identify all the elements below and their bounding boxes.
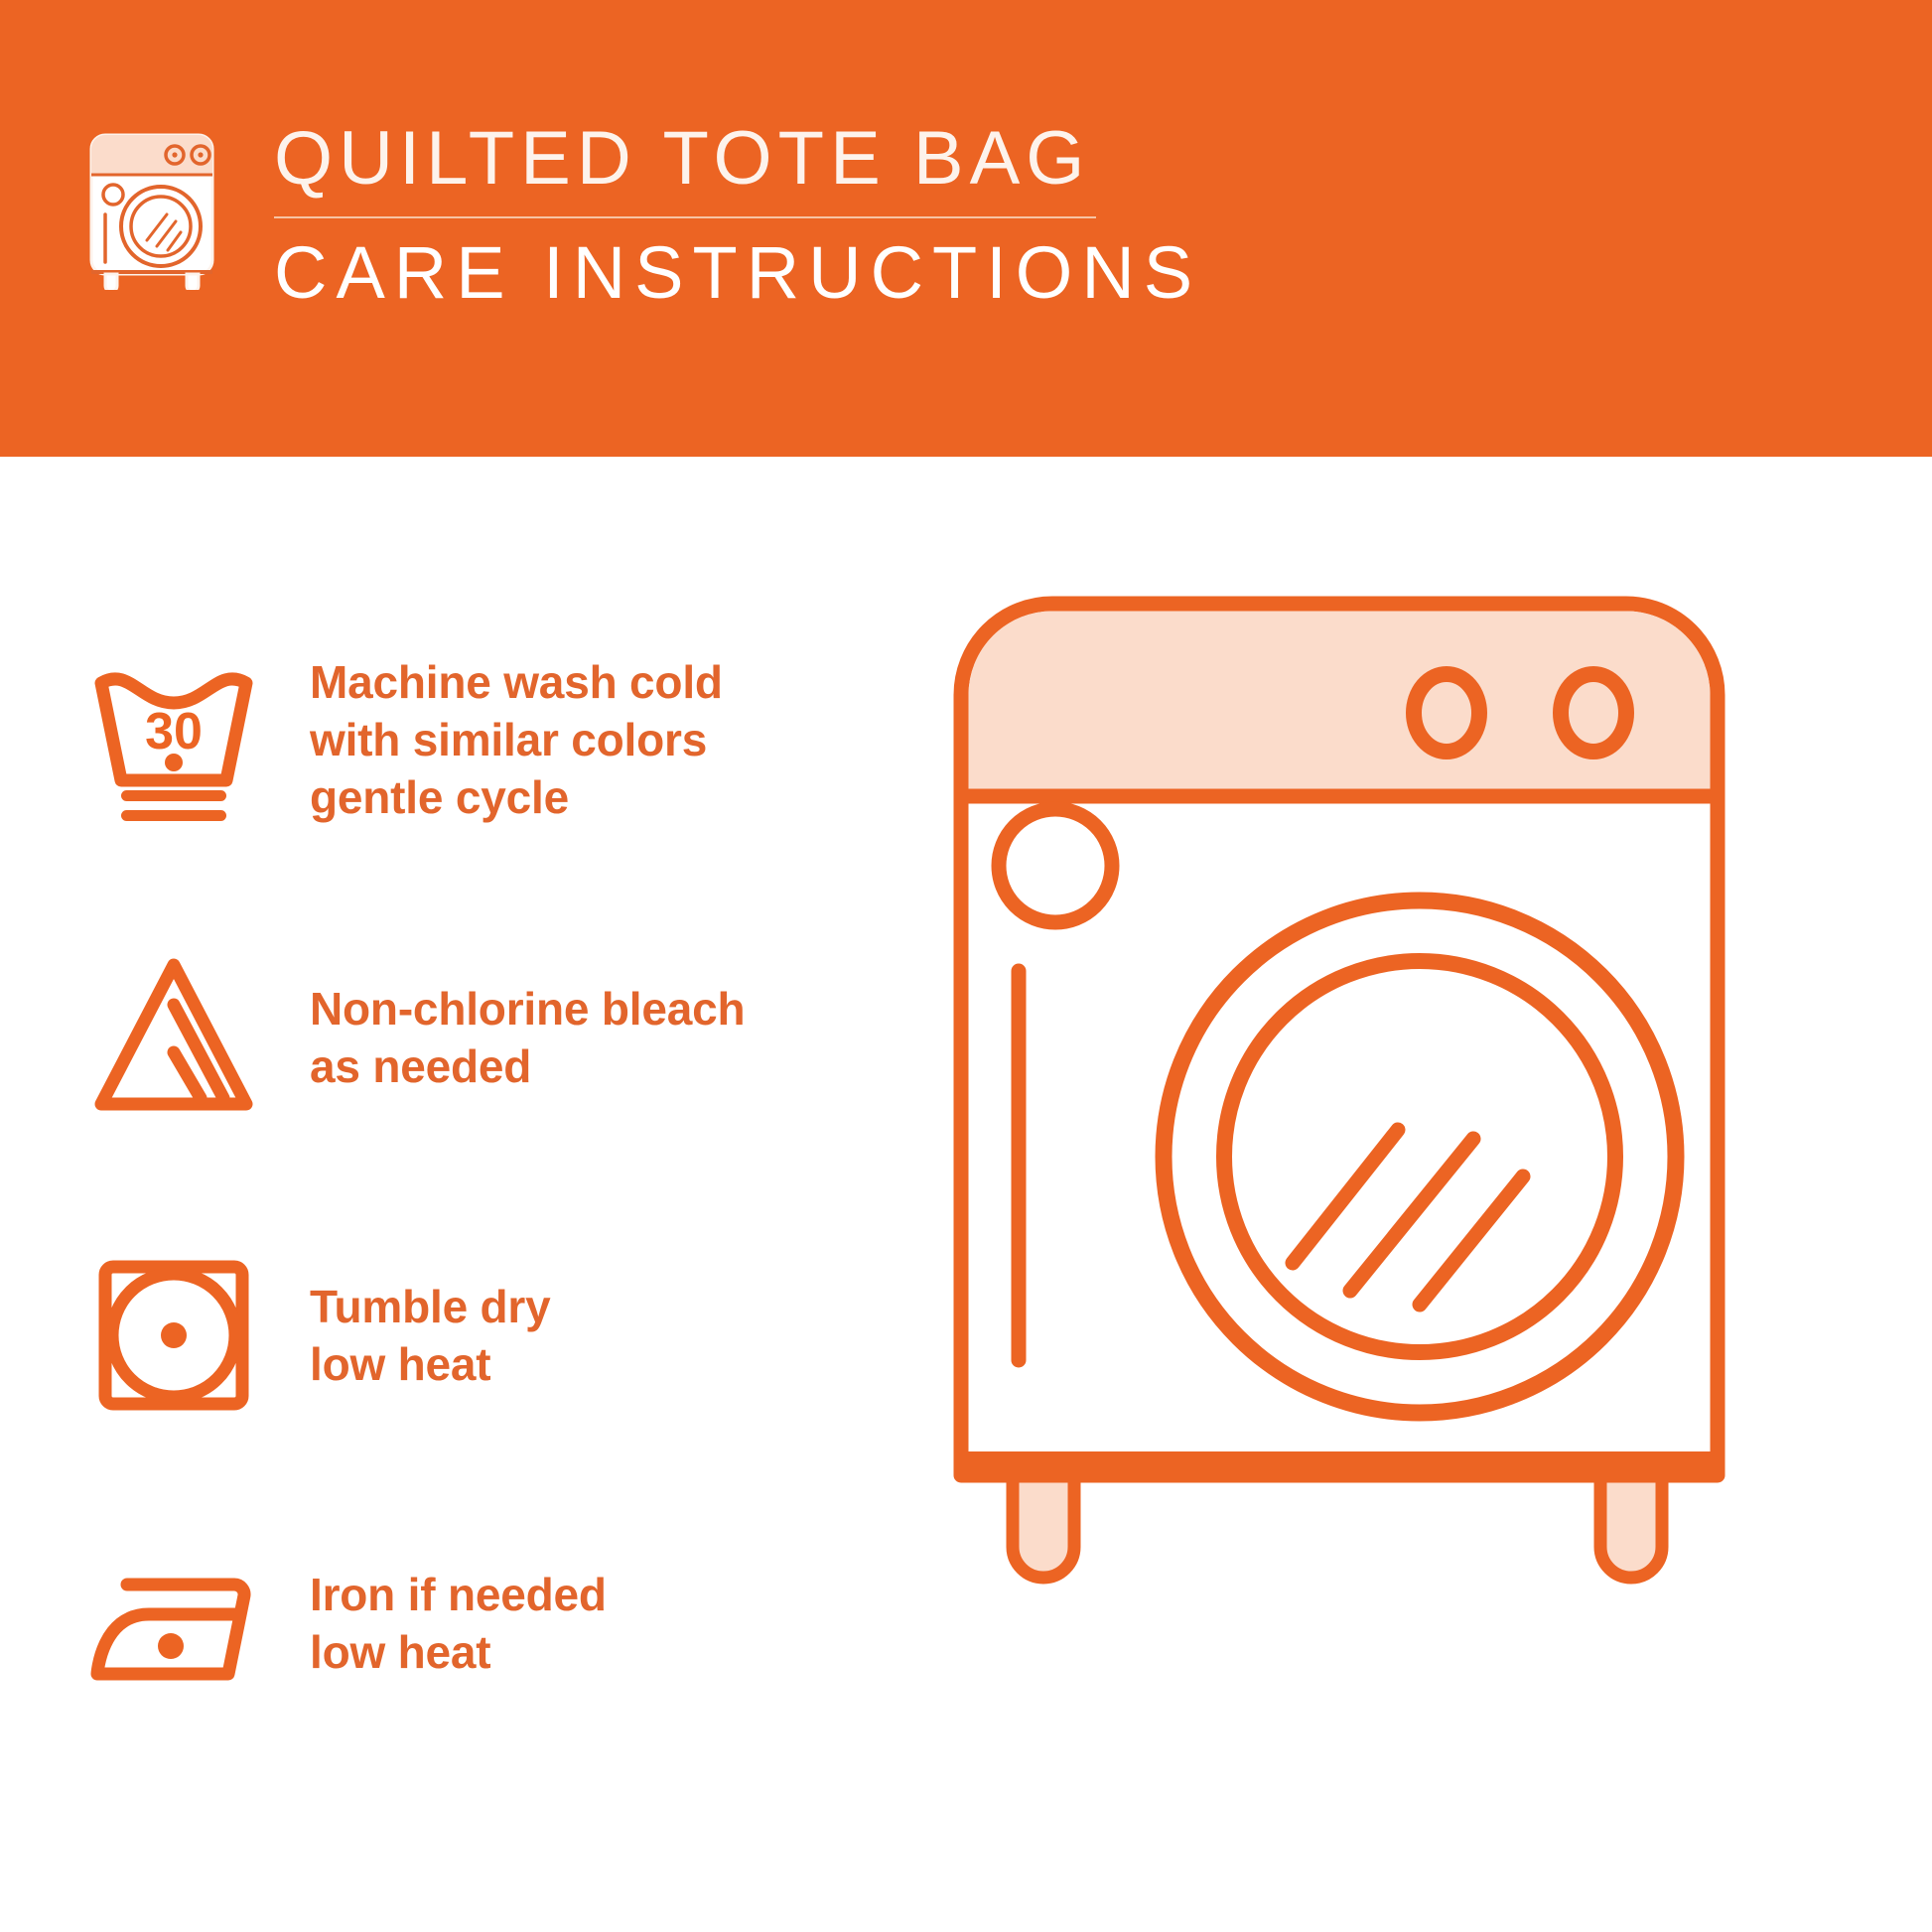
control-panel bbox=[969, 612, 1711, 797]
instruction-line: low heat bbox=[310, 1335, 551, 1393]
iron-low-heat-icon bbox=[79, 1529, 268, 1718]
header-banner: QUILTED TOTE BAG CARE INSTRUCTIONS bbox=[0, 0, 1932, 457]
header-divider bbox=[274, 216, 1096, 218]
header-text-block: QUILTED TOTE BAG CARE INSTRUCTIONS bbox=[274, 117, 1108, 314]
instruction-line: Iron if needed bbox=[310, 1566, 607, 1623]
non-chlorine-bleach-triangle-icon bbox=[79, 943, 268, 1132]
instruction-row-tumble-dry: Tumble dry low heat bbox=[79, 1241, 933, 1430]
page-subtitle: CARE INSTRUCTIONS bbox=[274, 232, 1108, 314]
instruction-line: as needed bbox=[310, 1037, 745, 1095]
washer-base-bar bbox=[961, 1451, 1718, 1475]
leg-right bbox=[1600, 1469, 1662, 1578]
instruction-label-machine-wash: Machine wash cold with similar colors ge… bbox=[310, 653, 723, 826]
instruction-line: gentle cycle bbox=[310, 768, 723, 826]
washing-machine-icon bbox=[77, 123, 226, 290]
page-title: QUILTED TOTE BAG bbox=[274, 117, 1108, 201]
tumble-dry-low-heat-icon bbox=[79, 1241, 268, 1430]
wash-temperature-label: 30 bbox=[145, 703, 203, 760]
instruction-label-bleach: Non-chlorine bleach as needed bbox=[310, 980, 745, 1095]
header-content: QUILTED TOTE BAG CARE INSTRUCTIONS bbox=[77, 117, 1108, 314]
washer-svg bbox=[953, 596, 1932, 1618]
instruction-row-bleach: Non-chlorine bleach as needed bbox=[79, 943, 933, 1132]
instruction-label-tumble-dry: Tumble dry low heat bbox=[310, 1278, 551, 1393]
leg-left bbox=[1013, 1469, 1074, 1578]
front-load-washing-machine-illustration bbox=[953, 596, 1932, 1618]
wash-tub-30-gentle-icon: 30 bbox=[79, 645, 268, 834]
care-instructions-list: 30 Machine wash cold with similar colors… bbox=[0, 457, 953, 1932]
instruction-row-iron: Iron if needed low heat bbox=[79, 1529, 933, 1718]
instruction-line: Machine wash cold bbox=[310, 653, 723, 711]
instruction-label-iron: Iron if needed low heat bbox=[310, 1566, 607, 1681]
instruction-line: Non-chlorine bleach bbox=[310, 980, 745, 1037]
instruction-line: low heat bbox=[310, 1623, 607, 1681]
instruction-line: with similar colors bbox=[310, 711, 723, 768]
instruction-line: Tumble dry bbox=[310, 1278, 551, 1335]
instruction-row-machine-wash: 30 Machine wash cold with similar colors… bbox=[79, 645, 933, 834]
